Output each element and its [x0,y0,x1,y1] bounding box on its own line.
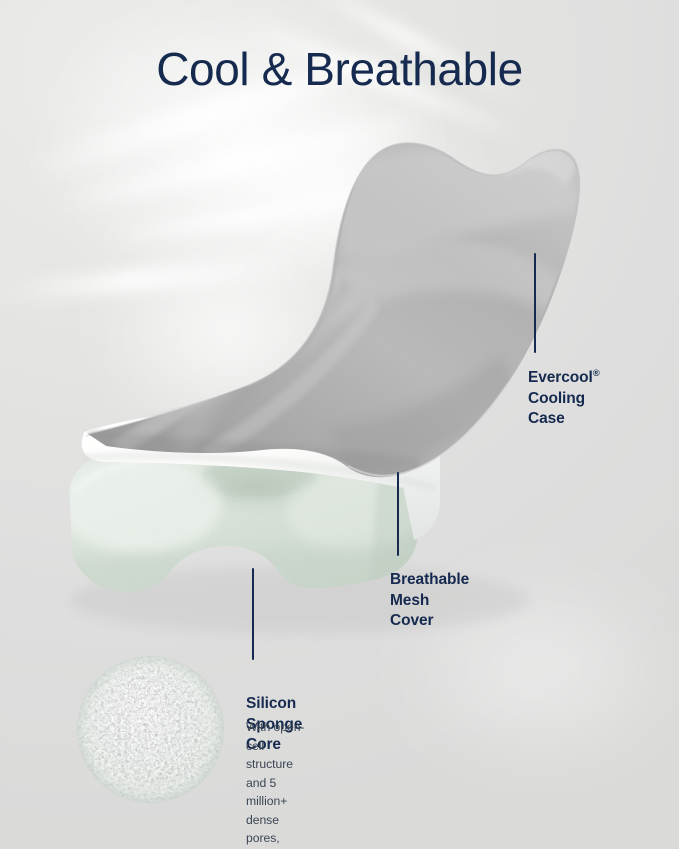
cooling-case-name: Evercool [528,369,593,386]
registered-trademark-icon: ® [593,368,600,379]
callout-body-sponge-core: With open-cell structure and 5 million+ … [246,718,304,849]
infographic-page: Cool & Breathable [0,0,679,849]
callout-label-mesh-cover: Breathable Mesh Cover [390,570,469,632]
leader-line-cooling-case [534,253,536,353]
callout-label-cooling-case: Evercool®Cooling Case [528,368,600,430]
leader-line-mesh-cover [397,472,399,556]
leader-line-sponge-core [252,568,254,660]
cooling-case-layer [88,143,580,490]
page-title: Cool & Breathable [0,44,679,95]
cooling-case-line2: Cooling Case [528,390,585,428]
sponge-macro-photo [78,657,223,802]
